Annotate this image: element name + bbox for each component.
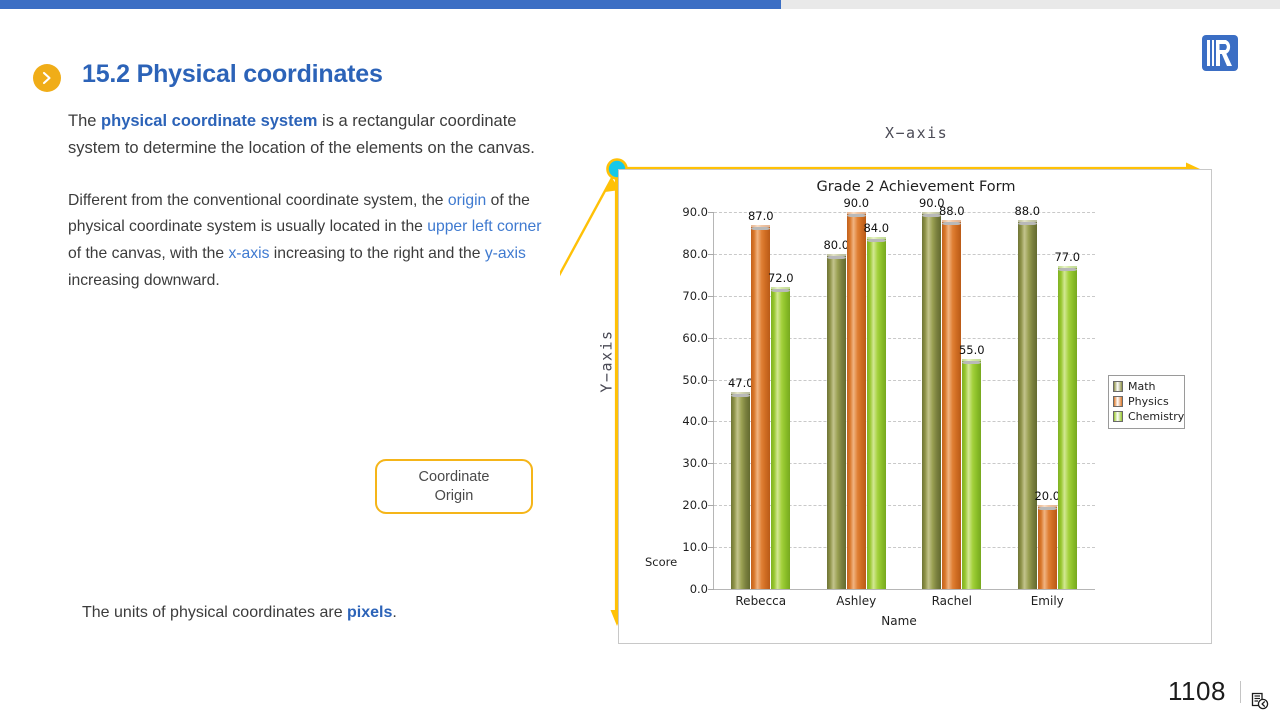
bar-value-label: 47.0 <box>728 376 754 390</box>
category-label-ashley: Ashley <box>836 594 876 608</box>
bar-top-cap <box>827 256 846 259</box>
page-number: 1108 <box>1168 676 1226 707</box>
bar-top-cap <box>751 227 770 230</box>
y-tick-label: 50.0 <box>656 373 708 387</box>
page-title: 15.2 Physical coordinates <box>82 60 383 89</box>
bar-value-label: 88.0 <box>939 204 965 218</box>
chevron-right-icon <box>33 64 61 92</box>
category-label-rebecca: Rebecca <box>735 594 786 608</box>
bar-value-label: 87.0 <box>748 209 774 223</box>
p2-text-5: increasing downward. <box>68 272 220 289</box>
slide-header: 15.2 Physical coordinates <box>0 22 1280 84</box>
bar-math-rebecca <box>731 392 750 589</box>
bar-chemistry-rachel <box>962 359 981 589</box>
y-tick-label: 30.0 <box>656 456 708 470</box>
bar-math-rachel <box>922 212 941 589</box>
bar-top-cap <box>962 361 981 364</box>
y-tick-label: 60.0 <box>656 331 708 345</box>
callout-line-1: Coordinate <box>419 468 490 487</box>
bar-chemistry-emily <box>1058 266 1077 589</box>
bar-top-cap <box>1018 222 1037 225</box>
legend-swatch <box>1113 381 1123 392</box>
bar-value-label: 20.0 <box>1034 489 1060 503</box>
document-back-icon[interactable] <box>1250 692 1269 716</box>
y-tick-label: 70.0 <box>656 289 708 303</box>
brand-r-logo-icon <box>1199 32 1241 74</box>
legend-swatch <box>1113 396 1123 407</box>
legend-swatch <box>1113 411 1123 422</box>
bar-value-label: 88.0 <box>1014 204 1040 218</box>
bar-math-ashley <box>827 254 846 589</box>
paragraph-1: The physical coordinate system is a rect… <box>68 108 548 162</box>
category-label-emily: Emily <box>1031 594 1064 608</box>
p2-text-4: increasing to the right and the <box>269 245 484 262</box>
chart-title: Grade 2 Achievement Form <box>619 179 1213 195</box>
y-axis-overlay-label: Y−axis <box>598 329 616 392</box>
chart-legend: MathPhysicsChemistry <box>1108 375 1185 429</box>
legend-item-chemistry[interactable]: Chemistry <box>1113 409 1180 424</box>
p2-emphasis-x-axis: x-axis <box>228 245 269 262</box>
bar-value-label: 72.0 <box>768 271 794 285</box>
chart-x-axis-title: Name <box>619 614 1179 628</box>
coordinate-origin-callout: Coordinate Origin <box>375 459 533 514</box>
bar-top-cap <box>731 394 750 397</box>
bar-value-label: 90.0 <box>843 196 869 210</box>
legend-label: Chemistry <box>1128 410 1184 423</box>
chart-x-axis-line <box>713 589 1095 590</box>
p1-emphasis-physical-coordinate-system: physical coordinate system <box>101 112 317 130</box>
legend-label: Physics <box>1128 395 1169 408</box>
bar-physics-rachel <box>942 220 961 589</box>
y-tick-label: 80.0 <box>656 247 708 261</box>
bar-top-cap <box>1038 507 1057 510</box>
y-tick-label: 90.0 <box>656 205 708 219</box>
callout-leader-line <box>560 178 620 458</box>
chart-plot-area: 47.087.072.080.090.084.090.088.055.088.0… <box>713 200 1095 589</box>
bar-value-label: 80.0 <box>823 238 849 252</box>
bar-top-cap <box>942 222 961 225</box>
p2-text-1: Different from the conventional coordina… <box>68 192 448 209</box>
slide-progress-track[interactable] <box>0 0 1280 9</box>
p2-emphasis-upper-left-corner: upper left corner <box>427 218 541 235</box>
bar-physics-emily <box>1038 505 1057 589</box>
bar-top-cap <box>867 239 886 242</box>
legend-item-math[interactable]: Math <box>1113 379 1180 394</box>
chart-y-axis-title: Score <box>645 555 677 569</box>
x-axis-overlay-label: X−axis <box>885 124 948 142</box>
bar-chemistry-rebecca <box>771 287 790 589</box>
bar-value-label: 55.0 <box>959 343 985 357</box>
p1-text-1: The <box>68 112 101 130</box>
body-copy: The physical coordinate system is a rect… <box>68 108 548 294</box>
legend-label: Math <box>1128 380 1156 393</box>
bar-top-cap <box>1058 268 1077 271</box>
bar-math-emily <box>1018 220 1037 589</box>
p2-emphasis-origin: origin <box>448 192 486 209</box>
bar-physics-ashley <box>847 212 866 589</box>
bar-value-label: 77.0 <box>1054 250 1080 264</box>
y-tick-label: 40.0 <box>656 414 708 428</box>
bar-chemistry-ashley <box>867 237 886 589</box>
p2-emphasis-y-axis: y-axis <box>485 245 526 262</box>
paragraph-2: Different from the conventional coordina… <box>68 188 548 295</box>
legend-item-physics[interactable]: Physics <box>1113 394 1180 409</box>
p2-text-3: of the canvas, with the <box>68 245 228 262</box>
category-label-rachel: Rachel <box>932 594 972 608</box>
units-text-1: The units of physical coordinates are <box>82 604 347 621</box>
chart-canvas-panel: Grade 2 Achievement Form 0.010.020.030.0… <box>618 169 1212 644</box>
units-text-2: . <box>392 604 396 621</box>
y-tick-mark <box>708 589 714 590</box>
bar-value-label: 84.0 <box>863 221 889 235</box>
slide-progress-fill <box>0 0 781 9</box>
y-tick-label: 20.0 <box>656 498 708 512</box>
y-tick-label: 0.0 <box>656 582 708 596</box>
bar-top-cap <box>847 214 866 217</box>
units-emphasis-pixels: pixels <box>347 604 392 621</box>
units-line: The units of physical coordinates are pi… <box>82 604 397 622</box>
footer-divider <box>1240 681 1241 703</box>
y-tick-label: 10.0 <box>656 540 708 554</box>
callout-line-2: Origin <box>435 487 474 506</box>
bar-top-cap <box>771 289 790 292</box>
